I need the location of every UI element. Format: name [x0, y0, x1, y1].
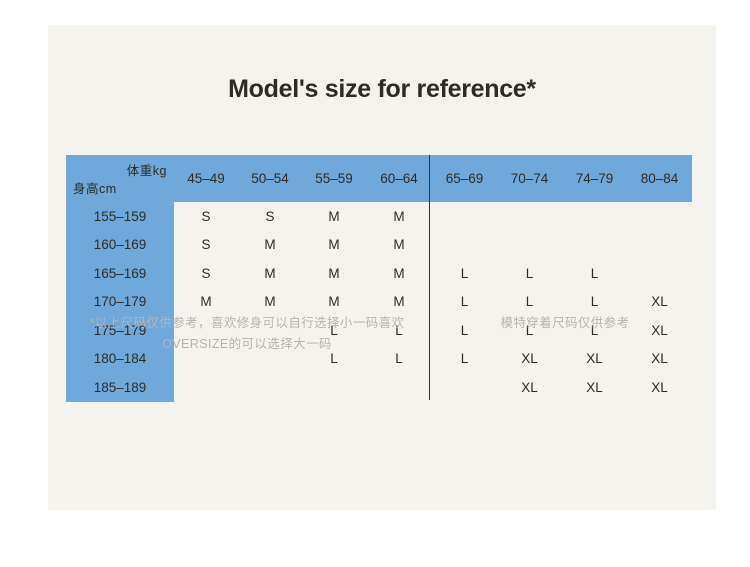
column-header-weight-1: 45–49 — [174, 155, 238, 202]
cell-r7c1 — [174, 373, 238, 402]
cell-r4c3: M — [302, 288, 366, 317]
cell-r7c8: XL — [627, 373, 692, 402]
row-header-height-4: 170–179 — [66, 288, 174, 317]
cell-r4c4: M — [366, 288, 432, 317]
cell-r3c3: M — [302, 259, 366, 288]
cell-r3c7: L — [562, 259, 627, 288]
cell-r4c7: L — [562, 288, 627, 317]
cell-r2c4: M — [366, 231, 432, 260]
column-header-weight-5: 65–69 — [432, 155, 497, 202]
column-header-weight-4: 60–64 — [366, 155, 432, 202]
footnote-left: *以上尺码仅供参考，喜欢修身可以自行选择小一码喜欢OVERSIZE的可以选择大一… — [68, 313, 426, 355]
cell-r4c2: M — [238, 288, 302, 317]
cell-r6c8: XL — [627, 345, 692, 374]
cell-r2c5 — [432, 231, 497, 260]
cell-r4c5: L — [432, 288, 497, 317]
cell-r3c5: L — [432, 259, 497, 288]
cell-r1c2: S — [238, 202, 302, 231]
cell-r3c6: L — [497, 259, 562, 288]
size-chart-table: 体重kg 身高cm 45–49 50–54 55–59 60–64 65–69 … — [66, 155, 692, 402]
table-row: 160–169 S M M M — [66, 231, 692, 260]
height-axis-label: 身高cm — [73, 178, 117, 197]
table-row: 170–179 M M M M L L L XL — [66, 288, 692, 317]
page-title: Model's size for reference* — [48, 75, 716, 104]
row-header-height-1: 155–159 — [66, 202, 174, 231]
cell-r3c2: M — [238, 259, 302, 288]
cell-r2c2: M — [238, 231, 302, 260]
column-header-weight-2: 50–54 — [238, 155, 302, 202]
cell-r7c6: XL — [497, 373, 562, 402]
cell-r2c8 — [627, 231, 692, 260]
footnote-right: 模特穿着尺码仅供参考 — [438, 313, 692, 334]
column-header-weight-3: 55–59 — [302, 155, 366, 202]
cell-r1c1: S — [174, 202, 238, 231]
cell-r2c7 — [562, 231, 627, 260]
cell-r4c8: XL — [627, 288, 692, 317]
cell-r2c3: M — [302, 231, 366, 260]
cell-r2c6 — [497, 231, 562, 260]
row-header-height-3: 165–169 — [66, 259, 174, 288]
cell-r6c7: XL — [562, 345, 627, 374]
table-header-row: 体重kg 身高cm 45–49 50–54 55–59 60–64 65–69 … — [66, 155, 692, 202]
row-header-height-7: 185–189 — [66, 373, 174, 402]
column-header-weight-8: 80–84 — [627, 155, 692, 202]
weight-axis-label: 体重kg — [127, 160, 167, 179]
cell-r2c1: S — [174, 231, 238, 260]
cell-r1c3: M — [302, 202, 366, 231]
cell-r6c5: L — [432, 345, 497, 374]
column-header-weight-6: 70–74 — [497, 155, 562, 202]
cell-r6c6: XL — [497, 345, 562, 374]
cell-r3c1: S — [174, 259, 238, 288]
cell-r1c5 — [432, 202, 497, 231]
row-header-height-2: 160–169 — [66, 231, 174, 260]
header-corner-cell: 体重kg 身高cm — [66, 155, 174, 202]
cell-r7c7: XL — [562, 373, 627, 402]
content-panel: Model's size for reference* 体重kg 身高cm 45… — [48, 25, 716, 510]
column-header-weight-7: 74–79 — [562, 155, 627, 202]
cell-r7c3 — [302, 373, 366, 402]
cell-r1c8 — [627, 202, 692, 231]
cell-r7c5 — [432, 373, 497, 402]
cell-r4c6: L — [497, 288, 562, 317]
cell-r1c7 — [562, 202, 627, 231]
table-row: 185–189 XL XL XL — [66, 373, 692, 402]
section-vertical-divider — [429, 155, 430, 400]
cell-r3c4: M — [366, 259, 432, 288]
cell-r7c4 — [366, 373, 432, 402]
cell-r3c8 — [627, 259, 692, 288]
cell-r7c2 — [238, 373, 302, 402]
cell-r4c1: M — [174, 288, 238, 317]
table-row: 155–159 S S M M — [66, 202, 692, 231]
table-row: 165–169 S M M M L L L — [66, 259, 692, 288]
cell-r1c4: M — [366, 202, 432, 231]
cell-r1c6 — [497, 202, 562, 231]
